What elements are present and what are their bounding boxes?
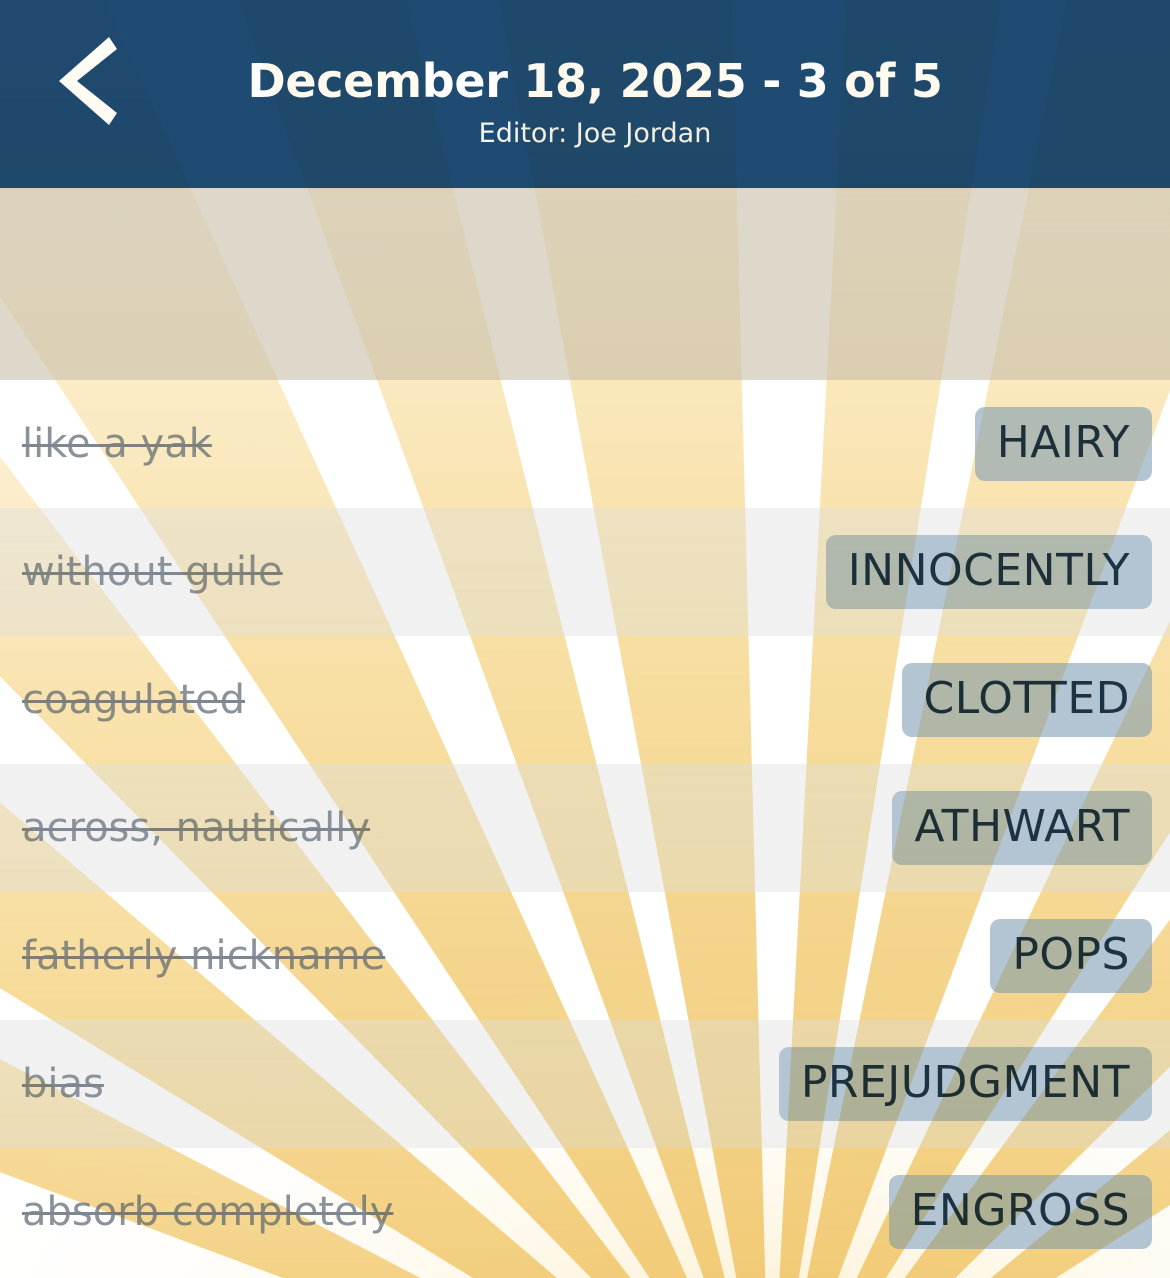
answer-chip[interactable]: INNOCENTLY [826, 535, 1152, 609]
clue-text: absorb completely [0, 1189, 393, 1235]
page-title: December 18, 2025 - 3 of 5 [40, 57, 1150, 105]
header-text-block: December 18, 2025 - 3 of 5 Editor: Joe J… [0, 57, 1170, 149]
back-button[interactable] [48, 28, 124, 134]
clue-row[interactable]: fatherly nicknamePOPS [0, 892, 1170, 1020]
clue-row[interactable]: without guileINNOCENTLY [0, 508, 1170, 636]
clue-text: coagulated [0, 677, 245, 723]
clue-row[interactable]: across, nauticallyATHWART [0, 764, 1170, 892]
clue-text: without guile [0, 549, 283, 595]
clue-row[interactable]: absorb completelyENGROSS [0, 1148, 1170, 1276]
answer-chip[interactable]: ENGROSS [889, 1175, 1152, 1249]
clue-row[interactable]: coagulatedCLOTTED [0, 636, 1170, 764]
clue-list: like a yakHAIRYwithout guileINNOCENTLYco… [0, 380, 1170, 1276]
clue-text: fatherly nickname [0, 933, 385, 979]
app-header: December 18, 2025 - 3 of 5 Editor: Joe J… [0, 0, 1170, 188]
answer-chip[interactable]: HAIRY [975, 407, 1152, 481]
chevron-left-icon [55, 33, 117, 129]
answer-chip[interactable]: CLOTTED [902, 663, 1152, 737]
editor-byline: Editor: Joe Jordan [40, 119, 1150, 149]
answer-chip[interactable]: POPS [990, 919, 1152, 993]
clue-text: bias [0, 1061, 104, 1107]
clue-row[interactable]: like a yakHAIRY [0, 380, 1170, 508]
banner-ad-slot[interactable] [0, 188, 1170, 380]
app-root: December 18, 2025 - 3 of 5 Editor: Joe J… [0, 0, 1170, 1278]
clue-row[interactable]: biasPREJUDGMENT [0, 1020, 1170, 1148]
answer-chip[interactable]: ATHWART [892, 791, 1152, 865]
clue-text: like a yak [0, 421, 212, 467]
clue-text: across, nautically [0, 805, 370, 851]
answer-chip[interactable]: PREJUDGMENT [779, 1047, 1152, 1121]
